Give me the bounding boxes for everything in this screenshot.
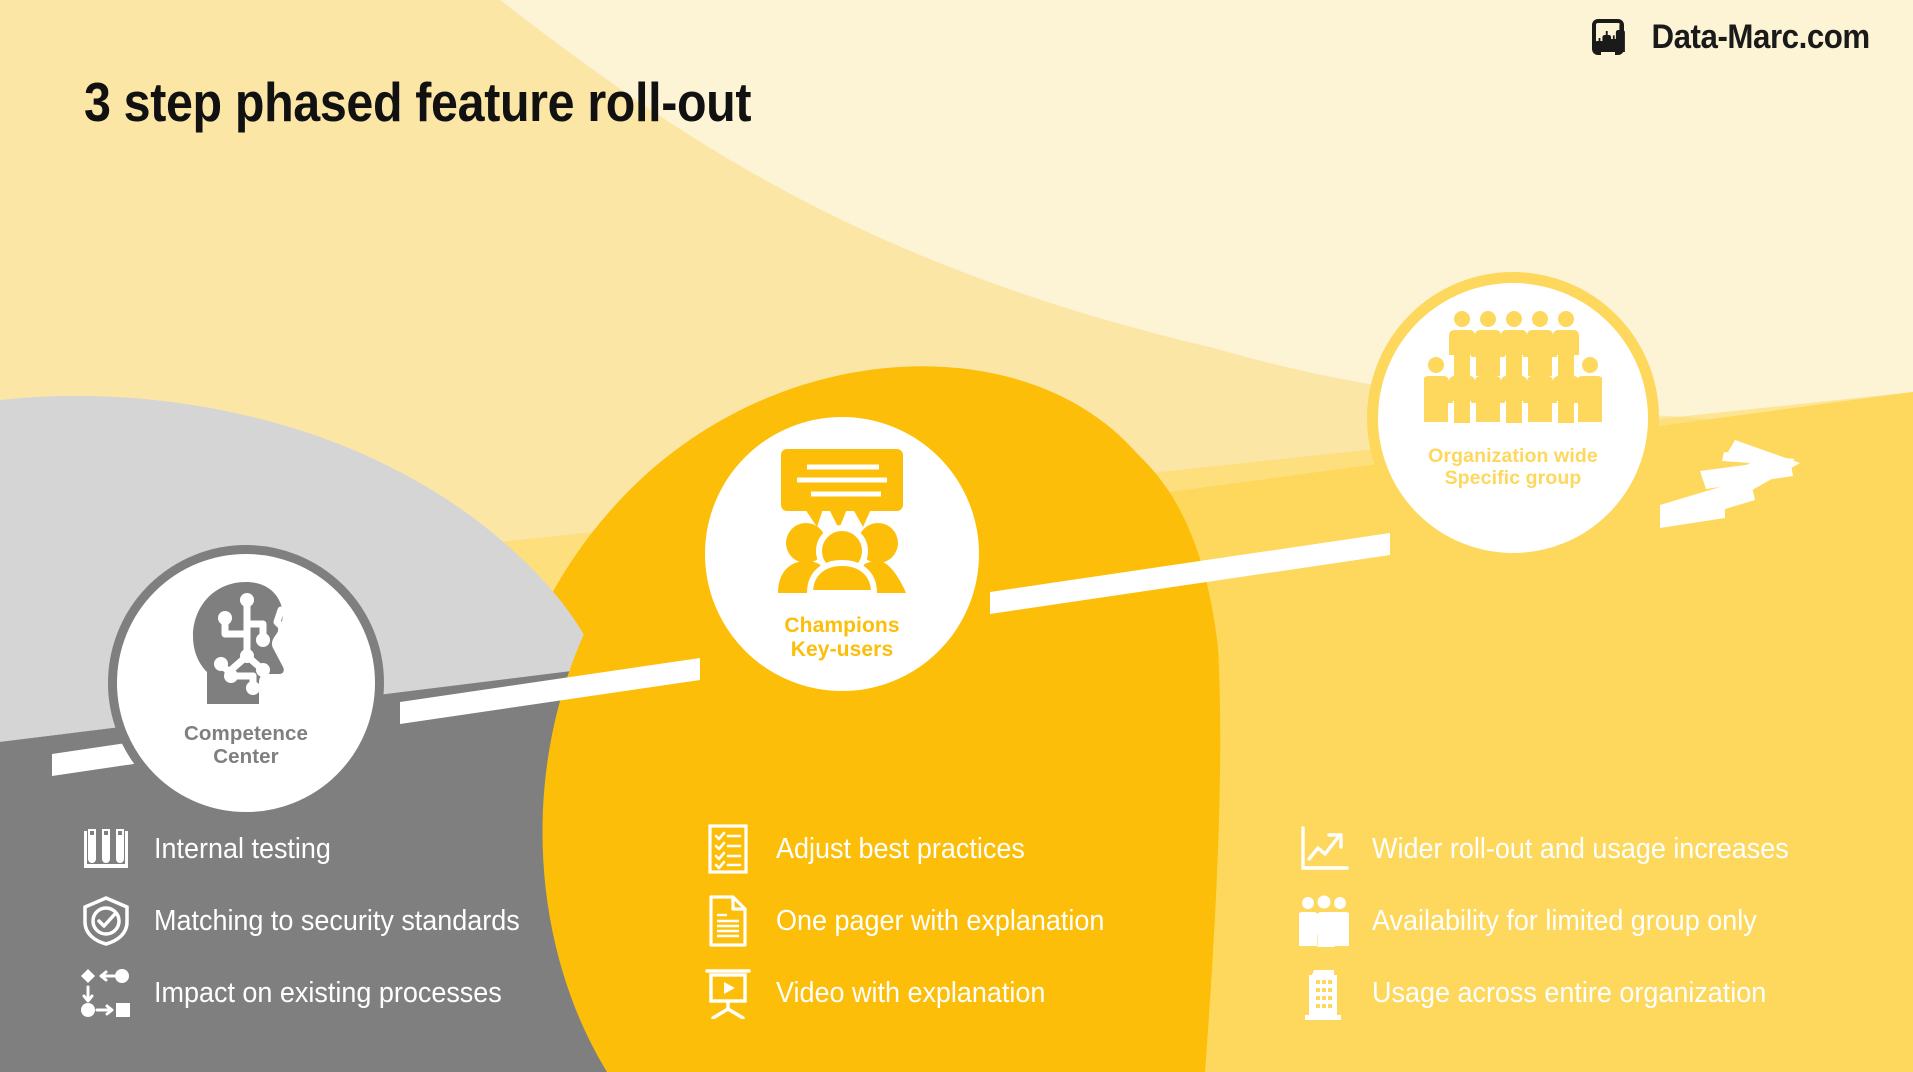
list-item[interactable]: Matching to security standards — [78, 898, 547, 944]
step-node-competence-center[interactable]: Competence Center — [108, 545, 384, 821]
list-item-label: Usage across entire organization — [1372, 977, 1766, 1010]
step-node-label-line1: Champions — [784, 614, 899, 638]
step-1-item-list: Internal testing Matching to security st… — [78, 826, 547, 1016]
list-item[interactable]: Availability for limited group only — [1296, 898, 1820, 944]
step-node-label: Champions Key-users — [784, 614, 899, 661]
crowd-people-icon — [1424, 311, 1602, 434]
step-node-organization-wide[interactable]: Organization wide Specific group — [1367, 272, 1659, 564]
step-node-label-line2: Key-users — [784, 638, 899, 662]
list-item-label: Adjust best practices — [776, 833, 1025, 866]
step-node-label-line1: Competence — [184, 723, 308, 746]
step-node-label-line2: Specific group — [1428, 468, 1598, 490]
presentation-play-icon — [700, 967, 756, 1019]
process-flow-icon — [78, 967, 134, 1019]
brand-logo-text: Data-Marc.com — [1651, 18, 1869, 57]
list-item-label: Video with explanation — [776, 977, 1045, 1010]
step-node-label-line2: Center — [184, 746, 308, 769]
step-2-item-list: Adjust best practices One pager with exp… — [700, 826, 1129, 1016]
bottles-bracket-icon — [1584, 16, 1630, 58]
test-tubes-icon — [78, 825, 134, 873]
speech-bubble-group-icon — [763, 447, 921, 600]
step-node-label-line1: Organization wide — [1428, 446, 1598, 468]
page-title: 3 step phased feature roll-out — [84, 70, 751, 134]
list-item-label: Wider roll-out and usage increases — [1372, 833, 1789, 866]
list-item-label: Internal testing — [154, 833, 331, 866]
list-item[interactable]: Adjust best practices — [700, 826, 1129, 872]
brand-logo[interactable]: Data-Marc.com — [1584, 16, 1879, 58]
three-people-icon — [1296, 895, 1352, 947]
list-item-label: Matching to security standards — [154, 905, 520, 938]
list-item[interactable]: Video with explanation — [700, 970, 1129, 1016]
list-item[interactable]: Usage across entire organization — [1296, 970, 1820, 1016]
brain-head-circuit-icon — [185, 578, 307, 713]
shield-check-icon — [78, 896, 134, 946]
step-node-champions[interactable]: Champions Key-users — [693, 405, 991, 703]
list-item-label: Impact on existing processes — [154, 977, 502, 1010]
list-item-label: Availability for limited group only — [1372, 905, 1757, 938]
infographic-canvas: 3 step phased feature roll-out Data-Marc… — [0, 0, 1913, 1072]
list-item[interactable]: One pager with explanation — [700, 898, 1129, 944]
list-item[interactable]: Impact on existing processes — [78, 970, 547, 1016]
growth-chart-icon — [1296, 826, 1352, 872]
step-node-label: Competence Center — [184, 723, 308, 769]
list-item[interactable]: Wider roll-out and usage increases — [1296, 826, 1820, 872]
document-icon — [700, 895, 756, 947]
building-icon — [1296, 966, 1352, 1020]
step-3-item-list: Wider roll-out and usage increases Avail… — [1296, 826, 1820, 1016]
list-item-label: One pager with explanation — [776, 905, 1104, 938]
list-item[interactable]: Internal testing — [78, 826, 547, 872]
step-node-label: Organization wide Specific group — [1428, 446, 1598, 490]
checklist-icon — [700, 823, 756, 875]
